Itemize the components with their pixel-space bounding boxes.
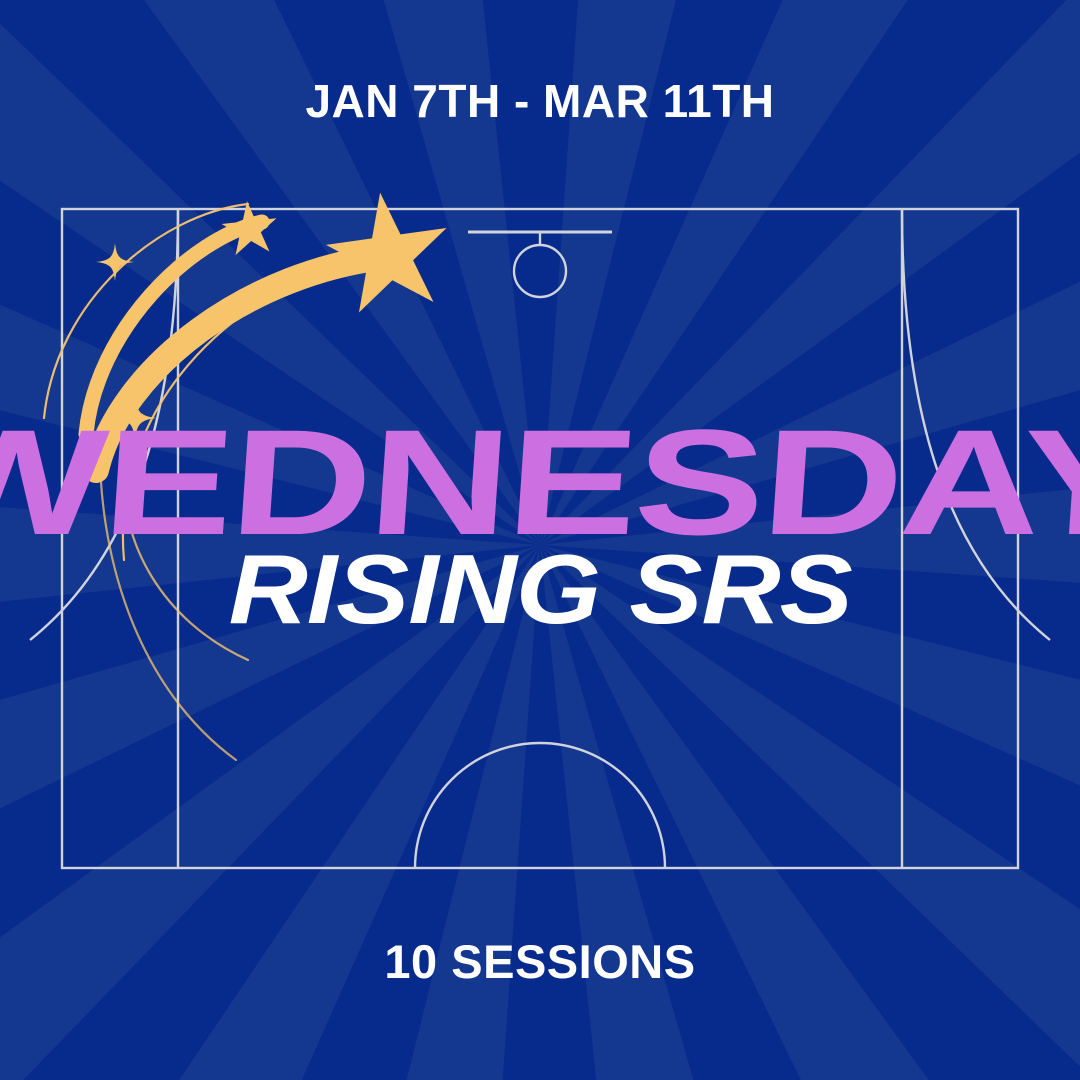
star-large	[320, 184, 457, 316]
headline-text: WEDNESDAY	[0, 424, 1080, 541]
sparkle-upper	[96, 243, 134, 281]
sessions-count-text: 10 SESSIONS	[0, 938, 1080, 985]
poster-canvas: JAN 7TH - MAR 11TH WEDNESDAY RISING SRS …	[0, 0, 1080, 1080]
date-range-text: JAN 7TH - MAR 11TH	[0, 78, 1080, 124]
headline-container: WEDNESDAY	[0, 424, 1080, 541]
subheadline-container: RISING SRS	[0, 548, 1080, 630]
subheadline-text: RISING SRS	[228, 548, 851, 630]
